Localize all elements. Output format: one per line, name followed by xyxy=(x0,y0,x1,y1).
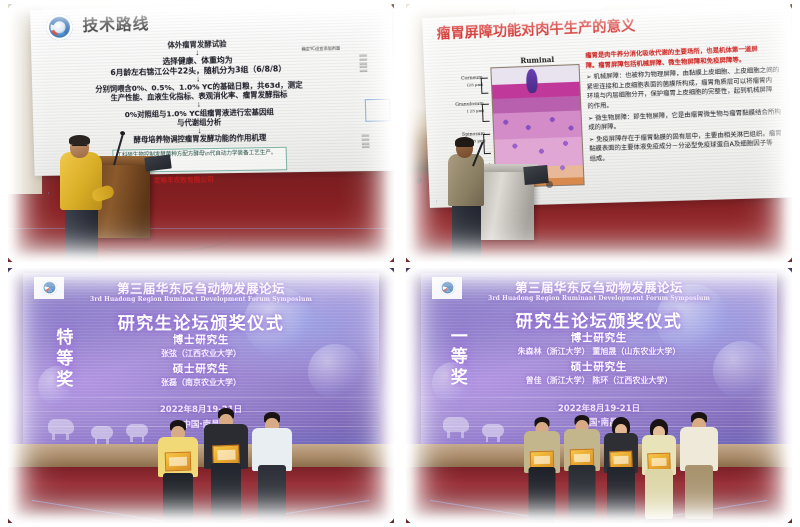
person-legs xyxy=(607,467,635,519)
person-awardee xyxy=(158,411,198,523)
award-winners: 张磊（南京农业大学） xyxy=(23,377,378,388)
photo-bottom-right: 第三届华东反刍动物发展论坛 3rd Huadong Region Ruminan… xyxy=(406,268,792,523)
photo-bottom-left: 第三届华东反刍动物发展论坛 3rd Huadong Region Ruminan… xyxy=(8,268,394,523)
slide-title: 技术路线 xyxy=(82,12,149,36)
person-shoes xyxy=(687,519,711,523)
laptop xyxy=(523,165,548,185)
decor-wave-line xyxy=(23,397,378,398)
person-official xyxy=(252,403,292,523)
person-legs xyxy=(258,465,286,519)
brace-icon xyxy=(481,78,489,94)
person-shoes xyxy=(531,519,554,523)
papilla-shape xyxy=(526,69,538,94)
certificate xyxy=(165,452,192,472)
award-winners: 曾佳（浙江大学） 陈环（江西农业大学） xyxy=(421,375,776,386)
forum-title-en: 3rd Huadong Region Ruminant Development … xyxy=(421,295,776,302)
person-awardee xyxy=(564,405,600,523)
person-legs xyxy=(685,465,713,519)
decor-wave-line xyxy=(23,411,378,412)
ceremony-title: 研究生论坛颁奖仪式 xyxy=(23,309,378,334)
diagram-title: Ruminal xyxy=(520,55,554,65)
person-shoes xyxy=(260,519,284,523)
event-date: 2022年8月19-21日 xyxy=(23,403,378,415)
award-level: 博士研究生 xyxy=(421,330,776,345)
logo-swirl xyxy=(440,280,455,295)
decor-orb xyxy=(656,284,728,356)
speaker-legs xyxy=(65,206,98,260)
award-level: 硕士研究生 xyxy=(23,361,378,376)
decor-orb xyxy=(38,366,78,406)
person-legs xyxy=(569,465,596,519)
forum-title-cn: 第三届华东反刍动物发展论坛 xyxy=(23,278,378,297)
person-legs xyxy=(645,469,673,519)
person-legs xyxy=(211,463,241,519)
person-legs xyxy=(529,467,556,519)
sheep-icon xyxy=(91,426,113,439)
slide-side-table: ▤▤▤▤▤▤▤▤▤▤▤▤▤▤▤ xyxy=(359,53,391,73)
person-shoes xyxy=(165,519,191,523)
stage-front-edge xyxy=(8,444,394,467)
award-winners: 张弦（江西农业大学） xyxy=(23,348,378,359)
cow-icon xyxy=(48,419,74,434)
speaker-hair xyxy=(455,137,474,147)
forum-logo-icon xyxy=(34,277,64,299)
person-awardee xyxy=(604,411,638,523)
decor-wave-band xyxy=(23,377,378,452)
award-level: 博士研究生 xyxy=(23,332,378,347)
slide-mini-chart xyxy=(365,99,391,122)
forum-logo-icon xyxy=(432,277,462,299)
sheep-icon xyxy=(126,424,148,437)
speaker-dot-icon xyxy=(415,177,422,184)
person-shoes xyxy=(648,519,670,523)
decor-wave-line xyxy=(23,426,378,427)
person-awardee xyxy=(642,413,676,523)
brace-icon xyxy=(482,104,490,122)
person-official xyxy=(680,403,718,523)
slide-side-table-2: ▤▤▤▤▤▤▤▤▤▤▤▤ xyxy=(362,134,394,150)
speaker-legs xyxy=(452,202,481,260)
person-awardee xyxy=(524,407,560,523)
led-screen: 第三届华东反刍动物发展论坛 3rd Huadong Region Ruminan… xyxy=(23,273,378,452)
brace-icon xyxy=(483,134,491,154)
speaker-torso xyxy=(448,154,484,206)
forum-title-cn: 第三届华东反刍动物发展论坛 xyxy=(421,277,776,296)
prize-label: 一等奖 xyxy=(446,327,472,389)
prize-label: 特等奖 xyxy=(52,328,78,390)
slide-company-note: 定裕丰农牧有限公司 xyxy=(154,173,214,184)
event-place: 中国·南昌 xyxy=(23,418,378,430)
sheep-icon xyxy=(482,424,504,437)
slide-body-text: 瘤胃是肉牛养分消化吸收代谢的主要场所，也是机体第一道屏 障。瘤胃屏障包括机械屏障… xyxy=(585,44,791,165)
person-shoes xyxy=(610,519,632,523)
ceremony-title: 研究生论坛颁奖仪式 xyxy=(421,307,776,332)
person-shoes xyxy=(571,519,594,523)
decor-wave-line xyxy=(421,397,776,398)
logo-swirl xyxy=(42,280,57,295)
decor-orb xyxy=(713,341,771,399)
photo-top-right: 瘤胃屏障功能对肉牛生产的意义 Ruminal Corneum (25 μm) G… xyxy=(406,4,792,262)
forum-title-en: 3rd Huadong Region Ruminant Development … xyxy=(23,296,378,303)
decor-orb xyxy=(244,287,314,357)
person-legs xyxy=(163,473,193,519)
stage-floor xyxy=(8,467,394,523)
speaker-hair xyxy=(69,135,90,145)
speaker-dot-icon xyxy=(546,181,553,188)
glasses-icon xyxy=(72,145,87,150)
award-winners: 朱森林（浙江大学） 董旭晟（山东农业大学） xyxy=(421,346,776,357)
award-level: 硕士研究生 xyxy=(421,359,776,374)
cow-icon xyxy=(443,417,469,432)
decor-orb xyxy=(308,344,363,399)
diagram-label: Corneum (25 μm) xyxy=(431,76,484,90)
diagram-label: Granulosum ( 25 μm) xyxy=(428,102,485,116)
decor-orb xyxy=(432,362,474,404)
person-shoes xyxy=(213,519,239,523)
slide-annotation: 确定YC适宜添加剂量 xyxy=(301,45,340,52)
photo-top-left: 技术路线 体外瘤胃发酵试验 ↓ 选择健康、体重均为 6月龄左右锦江公牛22头，随… xyxy=(8,4,394,262)
person-presenter xyxy=(204,399,248,523)
photo-collage: 技术路线 体外瘤胃发酵试验 ↓ 选择健康、体重均为 6月龄左右锦江公牛22头，随… xyxy=(0,0,800,527)
